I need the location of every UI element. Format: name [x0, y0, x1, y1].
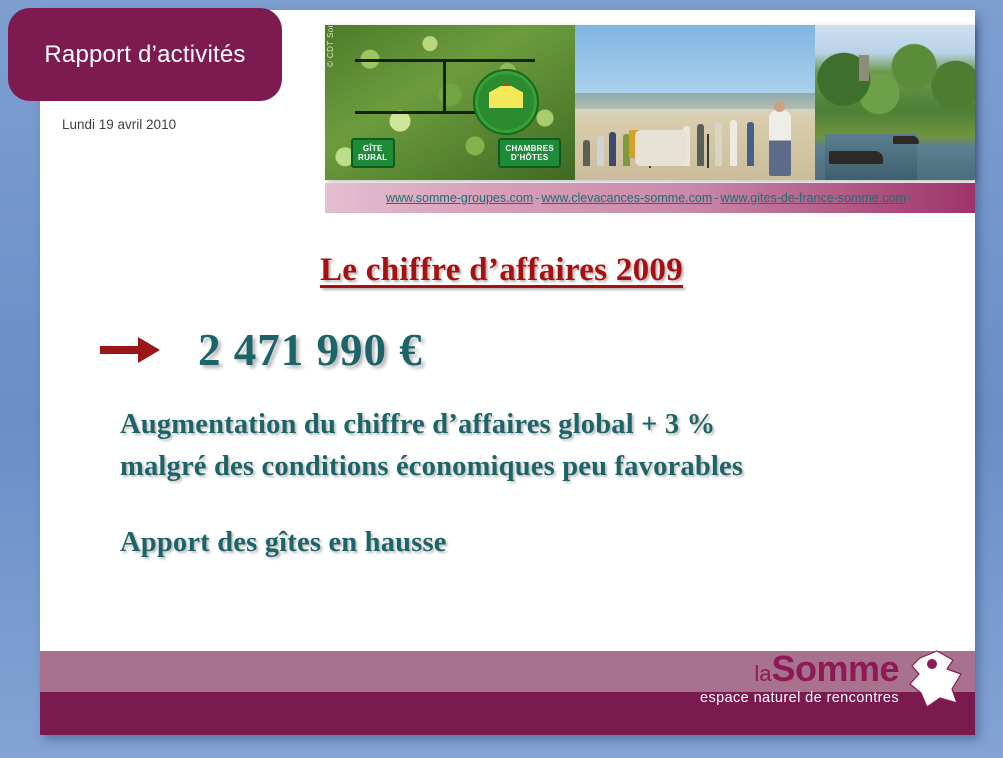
- logo-wordmark: laSomme espace naturel de rencontres: [700, 652, 899, 705]
- logo-prefix: la: [754, 661, 771, 686]
- figure: [597, 136, 604, 166]
- photo-strip: GÎTE RURAL CHAMBRES D’HÔTES © CDT Somme: [325, 25, 975, 180]
- iron-bracket: [355, 59, 535, 62]
- foreground-figure: [769, 110, 791, 176]
- photo-credit: © CDT Somme: [326, 25, 335, 67]
- figure: [583, 140, 590, 166]
- link-trailing-separator: -: [906, 191, 914, 205]
- heading-text: Le chiffre d’affaires 2009: [320, 252, 683, 288]
- link-clevacances-somme[interactable]: www.clevacances-somme.com: [541, 191, 712, 205]
- slide-title-tab: Rapport d’activités: [8, 8, 282, 101]
- right-arrow-icon: [100, 335, 162, 365]
- gite-rural-sign: GÎTE RURAL: [351, 138, 395, 168]
- link-somme-groupes[interactable]: www.somme-groupes.com: [386, 191, 533, 205]
- boat: [829, 151, 883, 164]
- church-tower: [859, 55, 869, 81]
- slide-date: Lundi 19 avril 2010: [62, 117, 176, 132]
- somme-map-icon: [907, 648, 965, 710]
- photo-beach-birdwatchers: [575, 25, 815, 180]
- page-title: Rapport d’activités: [44, 41, 245, 69]
- figure: [623, 134, 630, 166]
- revenue-amount: 2 471 990 €: [198, 324, 423, 376]
- gite-rural-line2: RURAL: [358, 153, 388, 162]
- website-links-band: www.somme-groupes.com-www.clevacances-so…: [325, 183, 975, 213]
- figure: [730, 120, 737, 166]
- figure: [715, 122, 722, 166]
- logo-name-line: laSomme: [700, 652, 899, 686]
- telescope-tripod: [707, 134, 709, 168]
- photo-canal-boats: [815, 25, 975, 180]
- gites-de-france-roundel-icon: [473, 69, 539, 135]
- boat: [893, 136, 919, 144]
- logo-name: Somme: [771, 648, 899, 689]
- bullet-line-1: Augmentation du chiffre d’affaires globa…: [120, 404, 743, 446]
- figure: [609, 132, 616, 166]
- photo-gites-de-france-sign: GÎTE RURAL CHAMBRES D’HÔTES © CDT Somme: [325, 25, 575, 180]
- chambres-dhotes-sign: CHAMBRES D’HÔTES: [498, 138, 561, 168]
- la-somme-logo: laSomme espace naturel de rencontres: [700, 648, 965, 710]
- slide-root: Rapport d’activités Lundi 19 avril 2010 …: [0, 0, 1003, 758]
- bullet-line-2: malgré des conditions économiques peu fa…: [120, 446, 743, 488]
- content-heading: Le chiffre d’affaires 2009: [0, 252, 1003, 289]
- logo-tagline: espace naturel de rencontres: [700, 690, 899, 706]
- website-links: www.somme-groupes.com-www.clevacances-so…: [386, 191, 914, 205]
- figure: [747, 122, 754, 166]
- tree-canopy: [815, 41, 975, 126]
- chambres-line2: D’HÔTES: [505, 153, 554, 162]
- chambres-line1: CHAMBRES: [505, 144, 554, 153]
- figure: [697, 124, 704, 166]
- bullet-line-3: Apport des gîtes en hausse: [120, 522, 743, 564]
- content-bullets: Augmentation du chiffre d’affaires globa…: [120, 404, 743, 565]
- gite-rural-line1: GÎTE: [358, 144, 388, 153]
- beach-gear: [635, 130, 687, 166]
- link-gites-de-france-somme[interactable]: www.gites-de-france-somme.com: [720, 191, 905, 205]
- bullet-spacer: [120, 488, 743, 522]
- amount-row: 2 471 990 €: [100, 324, 423, 376]
